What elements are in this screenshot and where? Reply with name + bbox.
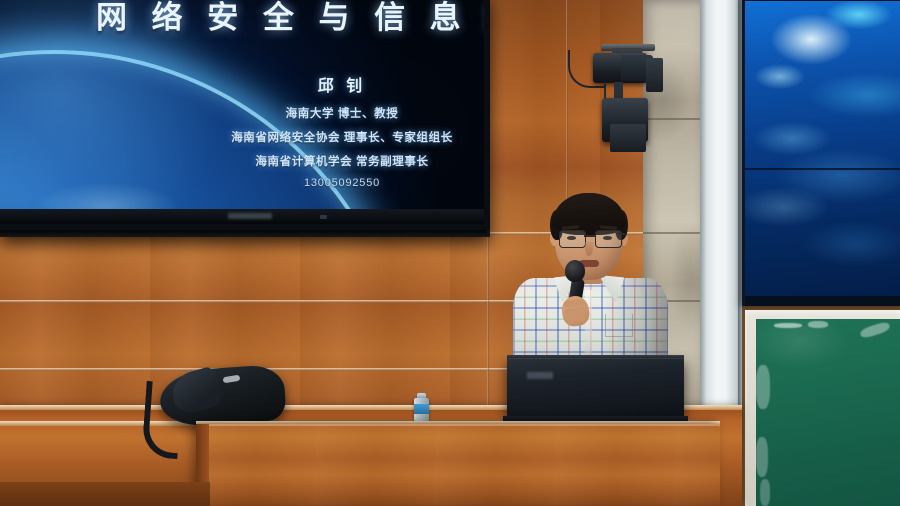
podium — [196, 424, 720, 506]
slide-phone-number: 13005092550 — [200, 177, 484, 189]
chalk-mark — [756, 437, 768, 477]
tv-brand-logo-icon — [228, 213, 272, 219]
nose — [585, 242, 593, 256]
right-display-screen — [742, 0, 900, 306]
chalkboard — [756, 319, 900, 506]
chalk-mark — [756, 365, 770, 409]
chalk-mark — [859, 321, 891, 340]
camera-mount-base — [610, 124, 646, 152]
eyeglasses-lens-left — [559, 230, 586, 248]
right-screen-bottom-bezel — [745, 296, 900, 306]
chalk-mark — [774, 323, 802, 328]
eyeglasses-bridge — [584, 235, 595, 237]
finger — [567, 315, 586, 323]
right-screen-top-bezel — [745, 0, 900, 1]
slide-body: 邱 钊 海南大学 博士、教授 海南省网络安全协会 理事长、专家组组长 海南省计算… — [200, 72, 484, 189]
tv-ir-sensor-icon — [320, 215, 327, 219]
slide-title: 网 络 安 全 与 信 息 素 养 — [96, 0, 476, 37]
right-screen-earth-image — [745, 0, 900, 306]
laptop — [507, 358, 684, 418]
pillar-seam — [643, 118, 707, 120]
presentation-tv: 网 络 安 全 与 信 息 素 养 邱 钊 海南大学 博士、教授 海南省网络安全… — [0, 0, 490, 237]
slide-credential-1: 海南大学 博士、教授 — [200, 105, 484, 121]
bottle-label — [414, 404, 429, 414]
microphone-icon — [565, 260, 585, 282]
chalk-mark — [808, 321, 828, 328]
slide-credential-3: 海南省计算机学会 常务副理事长 — [200, 153, 484, 169]
slide-credential-2: 海南省网络安全协会 理事长、专家组组长 — [200, 129, 484, 145]
desk-lower-panel — [0, 482, 210, 506]
laptop-brand-logo-icon — [527, 372, 553, 379]
speaker-person — [505, 190, 675, 375]
shirt-chest-pocket — [605, 314, 633, 337]
tv-screen: 网 络 安 全 与 信 息 素 养 邱 钊 海南大学 博士、教授 海南省网络安全… — [0, 0, 484, 209]
lecture-photo-scene: 网 络 安 全 与 信 息 素 养 邱 钊 海南大学 博士、教授 海南省网络安全… — [0, 0, 900, 506]
chalk-mark — [760, 479, 770, 506]
right-screen-panel-seam — [745, 168, 900, 170]
camera-lens-hood — [646, 58, 663, 92]
tv-drop-shadow — [0, 230, 487, 236]
slide-speaker-name: 邱 钊 — [200, 72, 484, 96]
